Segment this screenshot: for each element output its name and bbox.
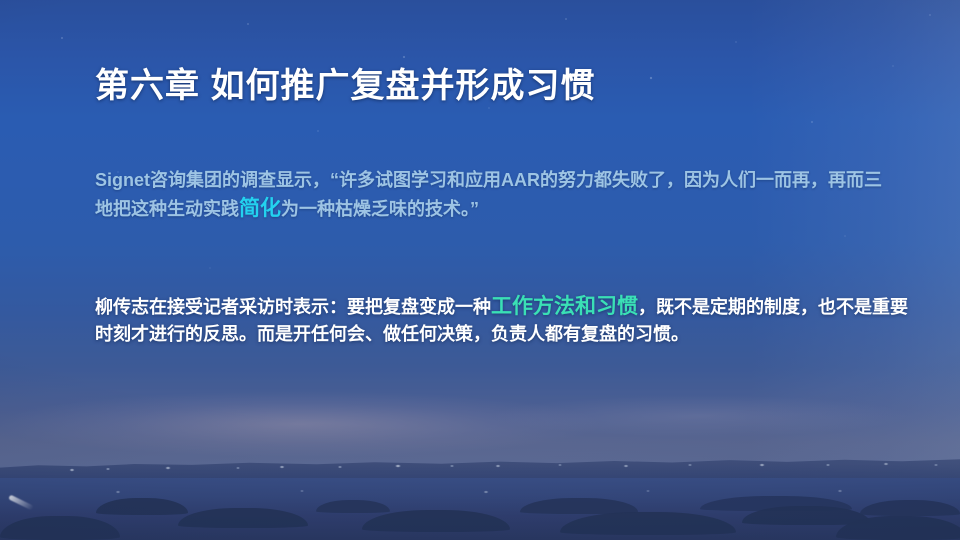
statement-lead-text: 柳传志在接受记者采访时表示：要把复盘变成一种 xyxy=(95,297,491,317)
quote-tail-text: 为一种枯燥乏味的技术。” xyxy=(281,199,479,219)
quote-highlight-text: 简化 xyxy=(239,197,281,220)
quote-lead-text: Signet咨询集团的调查显示，“许多试图学习和应用AAR的努力都失败了，因为人… xyxy=(95,170,882,219)
slide-content: 第六章 如何推广复盘并形成习惯 Signet咨询集团的调查显示，“许多试图学习和… xyxy=(0,0,960,540)
quote-paragraph: Signet咨询集团的调查显示，“许多试图学习和应用AAR的努力都失败了，因为人… xyxy=(95,168,885,223)
statement-highlight-text: 工作方法和习惯 xyxy=(491,295,638,318)
slide-title: 第六章 如何推广复盘并形成习惯 xyxy=(95,58,595,107)
presentation-slide: 第六章 如何推广复盘并形成习惯 Signet咨询集团的调查显示，“许多试图学习和… xyxy=(0,0,960,540)
statement-paragraph: 柳传志在接受记者采访时表示：要把复盘变成一种工作方法和习惯，既不是定期的制度，也… xyxy=(95,292,915,347)
